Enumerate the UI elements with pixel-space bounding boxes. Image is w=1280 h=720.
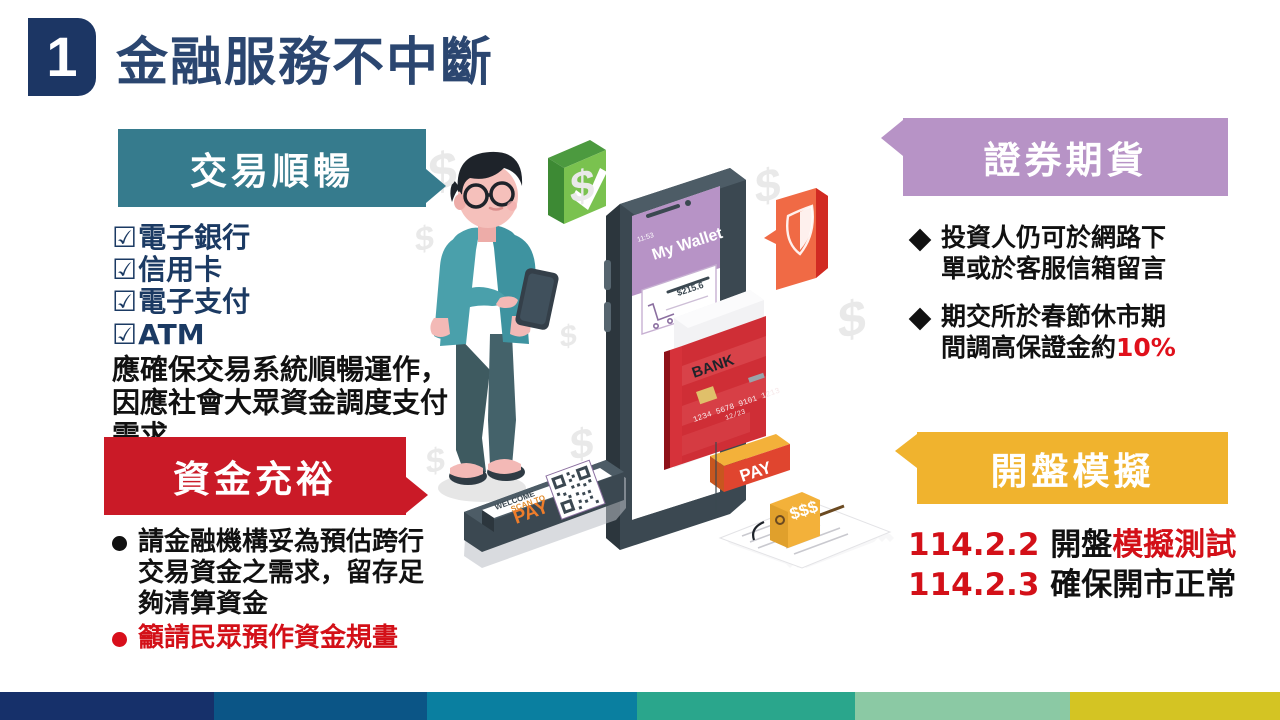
checkbox-icon: ☑ — [112, 221, 137, 254]
simulation-date: 114.2.2 — [908, 527, 1039, 563]
bottom-bar-segment-1 — [0, 692, 214, 720]
funds-bullet-line: 籲請民眾預作資金規畫 — [138, 623, 398, 654]
banner-funds-label: 資金充裕 — [173, 449, 337, 503]
banner-securities: 證券期貨 — [903, 118, 1228, 196]
securities-highlight: 10% — [1116, 333, 1176, 362]
securities-bullet-line: 投資人仍可於網路下 — [941, 223, 1166, 252]
trade-description-line: 應確保交易系統順暢運作， — [112, 353, 462, 386]
step-number-badge: 1 — [28, 18, 96, 96]
banner-funds: 資金充裕 — [104, 437, 406, 515]
securities-bullet-text: 期交所於春節休市期 間調高保證金約10% — [941, 301, 1176, 364]
list-item: 期交所於春節休市期 間調高保證金約10% — [912, 301, 1252, 364]
bullet-dot-icon — [112, 536, 127, 551]
securities-content: 投資人仍可於網路下 單或於客服信箱留言 期交所於春節休市期 間調高保證金約10% — [912, 222, 1252, 379]
checkbox-icon: ☑ — [112, 253, 137, 286]
bottom-bar-segment-4 — [637, 692, 855, 720]
banner-tail — [881, 120, 903, 156]
banner-securities-label: 證券期貨 — [984, 130, 1148, 184]
dollar-symbol-icon: $ — [838, 287, 866, 351]
checkbox-icon: ☑ — [112, 285, 137, 318]
checklist-item-label: 信用卡 — [138, 253, 222, 286]
simulation-line: 114.2.2 開盤模擬測試 — [908, 525, 1258, 565]
funds-bullet-line: 交易資金之需求，留存足 — [138, 558, 424, 588]
banner-trade-label: 交易順暢 — [190, 141, 354, 195]
dollar-symbol-icon: $ — [570, 418, 593, 471]
funds-bullet-text: 請金融機構妥為預估跨行 交易資金之需求，留存足 夠清算資金 — [138, 527, 424, 621]
trade-description-line: 因應社會大眾資金調度支付 — [112, 386, 462, 419]
bottom-bar-segment-5 — [855, 692, 1070, 720]
dollar-symbol-icon: $ — [570, 159, 594, 214]
funds-bullet-line: 請金融機構妥為預估跨行 — [138, 527, 424, 557]
page-header: 1 金融服務不中斷 — [28, 18, 494, 96]
dollar-symbol-icon: $ — [755, 155, 781, 214]
simulation-date: 114.2.3 — [908, 567, 1039, 603]
list-item: 請金融機構妥為預估跨行 交易資金之需求，留存足 夠清算資金 — [112, 527, 482, 621]
dollar-symbol-icon: $ — [560, 318, 577, 356]
simulation-content: 114.2.2 開盤模擬測試 114.2.3 確保開市正常 — [908, 525, 1258, 606]
checklist-item: ☑信用卡 — [112, 254, 462, 286]
bottom-bar-segment-2 — [214, 692, 427, 720]
funds-content: 請金融機構妥為預估跨行 交易資金之需求，留存足 夠清算資金 籲請民眾預作資金規畫 — [112, 527, 482, 656]
checklist-item: ☑電子銀行 — [112, 222, 462, 254]
securities-bullet-text: 投資人仍可於網路下 單或於客服信箱留言 — [941, 222, 1166, 285]
banner-simulation: 開盤模擬 — [917, 432, 1228, 504]
checklist-item: ☑ATM — [112, 319, 462, 351]
list-item: 籲請民眾預作資金規畫 — [112, 623, 482, 654]
securities-bullet-line: 間調高保證金約 — [941, 333, 1116, 362]
banner-tail — [406, 477, 428, 513]
securities-bullet-line: 期交所於春節休市期 — [941, 302, 1166, 331]
payment-illustration: $ $ $ $ $ $ $ $ — [420, 120, 920, 640]
trade-content: ☑電子銀行 ☑信用卡 ☑電子支付 ☑ATM 應確保交易系統順暢運作， 因應社會大… — [112, 222, 462, 452]
banner-tail — [426, 169, 446, 203]
checkbox-icon: ☑ — [112, 318, 137, 351]
bottom-bar-segment-3 — [427, 692, 637, 720]
diamond-bullet-icon — [909, 229, 932, 252]
checklist-item: ☑電子支付 — [112, 286, 462, 318]
slide-root: 1 金融服務不中斷 $ $ $ $ $ $ $ $ — [0, 0, 1280, 720]
simulation-text-red: 模擬測試 — [1112, 527, 1236, 563]
simulation-text-black: 確保開市正常 — [1039, 567, 1236, 603]
list-item: 投資人仍可於網路下 單或於客服信箱留言 — [912, 222, 1252, 285]
banner-simulation-label: 開盤模擬 — [991, 441, 1155, 495]
bottom-bar-segment-6 — [1070, 692, 1280, 720]
checklist-item-label: ATM — [138, 318, 204, 351]
securities-bullet-line: 單或於客服信箱留言 — [941, 254, 1166, 283]
simulation-line: 114.2.3 確保開市正常 — [908, 565, 1258, 605]
checklist-item-label: 電子銀行 — [138, 221, 250, 254]
banner-tail — [895, 434, 917, 468]
simulation-text-black: 開盤 — [1039, 527, 1112, 563]
diamond-bullet-icon — [909, 307, 932, 330]
checklist-item-label: 電子支付 — [138, 285, 250, 318]
funds-bullet-line: 夠清算資金 — [138, 589, 268, 619]
page-title: 金融服務不中斷 — [116, 20, 494, 95]
bottom-color-bar — [0, 692, 1280, 720]
banner-trade: 交易順暢 — [118, 129, 426, 207]
bullet-dot-icon — [112, 632, 127, 647]
